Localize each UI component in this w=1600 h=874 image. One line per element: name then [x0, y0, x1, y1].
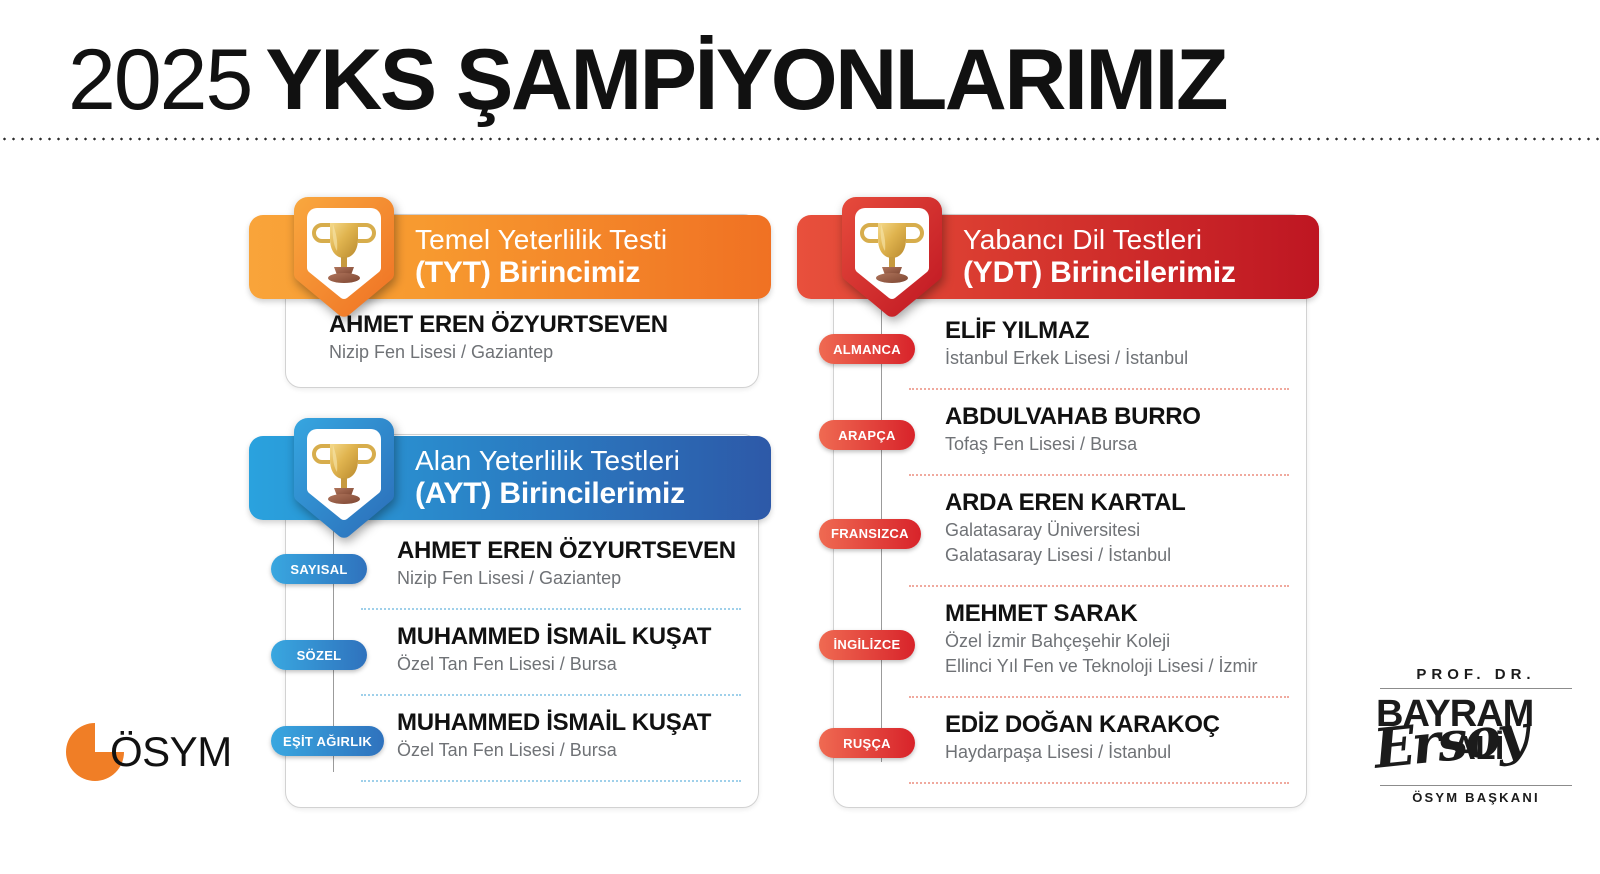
person-school: Nizip Fen Lisesi / Gaziantep [329, 340, 741, 364]
person-school: Tofaş Fen Lisesi / Bursa [945, 432, 1289, 456]
row-divider [361, 608, 741, 610]
list-item: EŞİT AĞIRLIK MUHAMMED İSMAİL KUŞAT Özel … [285, 708, 759, 782]
signature-rule-bottom [1380, 785, 1572, 786]
list-item: ARAPÇA ABDULVAHAB BURRO Tofaş Fen Lisesi… [833, 402, 1307, 476]
category-pill: SAYISAL [271, 554, 367, 584]
person-name: MUHAMMED İSMAİL KUŞAT [397, 708, 741, 737]
person-name: AHMET EREN ÖZYURTSEVEN [397, 536, 741, 565]
person-name: AHMET EREN ÖZYURTSEVEN [329, 310, 741, 339]
person-name: MUHAMMED İSMAİL KUŞAT [397, 622, 741, 651]
ydt-rows: ALMANCA ELİF YILMAZ İstanbul Erkek Lises… [833, 316, 1307, 784]
ayt-rows: SAYISAL AHMET EREN ÖZYURTSEVEN Nizip Fen… [285, 536, 759, 782]
person-school: Özel İzmir Bahçeşehir Koleji [945, 629, 1289, 653]
person-school: Nizip Fen Lisesi / Gaziantep [397, 566, 741, 590]
ydt-ribbon-line2: (YDT) Birincilerimiz [963, 257, 1236, 289]
person-name: ARDA EREN KARTAL [945, 488, 1289, 517]
category-pill: ALMANCA [819, 334, 915, 364]
category-pill: FRANSIZCA [819, 519, 921, 549]
tyt-ribbon-line1: Temel Yeterlilik Testi [415, 225, 667, 255]
ayt-ribbon-line2: (AYT) Birincilerimiz [415, 478, 685, 510]
signature-block: PROF. DR. BAYRAM ALİ Ersoy ÖSYM BAŞKANI [1368, 666, 1584, 805]
tyt-rows: AHMET EREN ÖZYURTSEVEN Nizip Fen Lisesi … [285, 310, 759, 376]
tyt-ribbon-text: Temel Yeterlilik Testi (TYT) Birincimiz [415, 225, 667, 289]
ydt-ribbon-text: Yabancı Dil Testleri (YDT) Birincilerimi… [963, 225, 1236, 289]
person-school: Özel Tan Fen Lisesi / Bursa [397, 738, 741, 762]
ydt-ribbon-line1: Yabancı Dil Testleri [963, 225, 1236, 255]
person-school: Özel Tan Fen Lisesi / Bursa [397, 652, 741, 676]
person-school: Haydarpaşa Lisesi / İstanbul [945, 740, 1289, 764]
row-divider [909, 696, 1289, 698]
person-name: ABDULVAHAB BURRO [945, 402, 1289, 431]
header-divider [0, 137, 1600, 141]
tyt-ribbon-line2: (TYT) Birincimiz [415, 257, 667, 289]
list-item: SAYISAL AHMET EREN ÖZYURTSEVEN Nizip Fen… [285, 536, 759, 610]
person-school: İstanbul Erkek Lisesi / İstanbul [945, 346, 1289, 370]
person-name: EDİZ DOĞAN KARAKOÇ [945, 710, 1289, 739]
list-item: İNGİLİZCE MEHMET SARAK Özel İzmir Bahçeş… [833, 599, 1307, 698]
category-pill: SÖZEL [271, 640, 367, 670]
ayt-ribbon-line1: Alan Yeterlilik Testleri [415, 446, 685, 476]
trophy-badge-icon [292, 195, 396, 320]
osym-logo: ÖSYM [66, 712, 266, 792]
row-divider [909, 474, 1289, 476]
list-item: SÖZEL MUHAMMED İSMAİL KUŞAT Özel Tan Fen… [285, 622, 759, 696]
signature-rule-top [1380, 688, 1572, 689]
signature-name: BAYRAM ALİ Ersoy [1368, 691, 1584, 783]
row-divider [909, 782, 1289, 784]
poster-header: 2025YKS ŞAMPİYONLARIMIZ [0, 0, 1600, 145]
list-item: RUŞÇA EDİZ DOĞAN KARAKOÇ Haydarpaşa Lise… [833, 710, 1307, 784]
person-name: MEHMET SARAK [945, 599, 1289, 628]
signature-prefix: PROF. DR. [1368, 666, 1584, 683]
list-item: ALMANCA ELİF YILMAZ İstanbul Erkek Lises… [833, 316, 1307, 390]
person-school-second-line: Galatasaray Lisesi / İstanbul [945, 543, 1289, 567]
category-pill: EŞİT AĞIRLIK [271, 726, 384, 756]
row-divider [361, 694, 741, 696]
page-title: 2025YKS ŞAMPİYONLARIMIZ [68, 32, 1226, 128]
row-divider [361, 780, 741, 782]
poster-root: 2025YKS ŞAMPİYONLARIMIZ Temel Yeterlilik… [0, 0, 1600, 874]
category-pill: RUŞÇA [819, 728, 915, 758]
trophy-badge-icon [292, 416, 396, 541]
title-main: YKS ŞAMPİYONLARIMIZ [265, 32, 1226, 128]
osym-logo-text: ÖSYM [110, 728, 232, 776]
person-name: ELİF YILMAZ [945, 316, 1289, 345]
list-item: AHMET EREN ÖZYURTSEVEN Nizip Fen Lisesi … [285, 310, 759, 376]
person-school-second-line: Ellinci Yıl Fen ve Teknoloji Lisesi / İz… [945, 654, 1289, 678]
row-divider [909, 388, 1289, 390]
person-school: Galatasaray Üniversitesi [945, 518, 1289, 542]
title-year: 2025 [68, 32, 251, 128]
list-item: FRANSIZCA ARDA EREN KARTAL Galatasaray Ü… [833, 488, 1307, 587]
ayt-ribbon-text: Alan Yeterlilik Testleri (AYT) Birincile… [415, 446, 685, 510]
category-pill: ARAPÇA [819, 420, 915, 450]
signature-role: ÖSYM BAŞKANI [1368, 790, 1584, 805]
row-divider [909, 585, 1289, 587]
category-pill: İNGİLİZCE [819, 630, 915, 660]
trophy-badge-icon [840, 195, 944, 320]
